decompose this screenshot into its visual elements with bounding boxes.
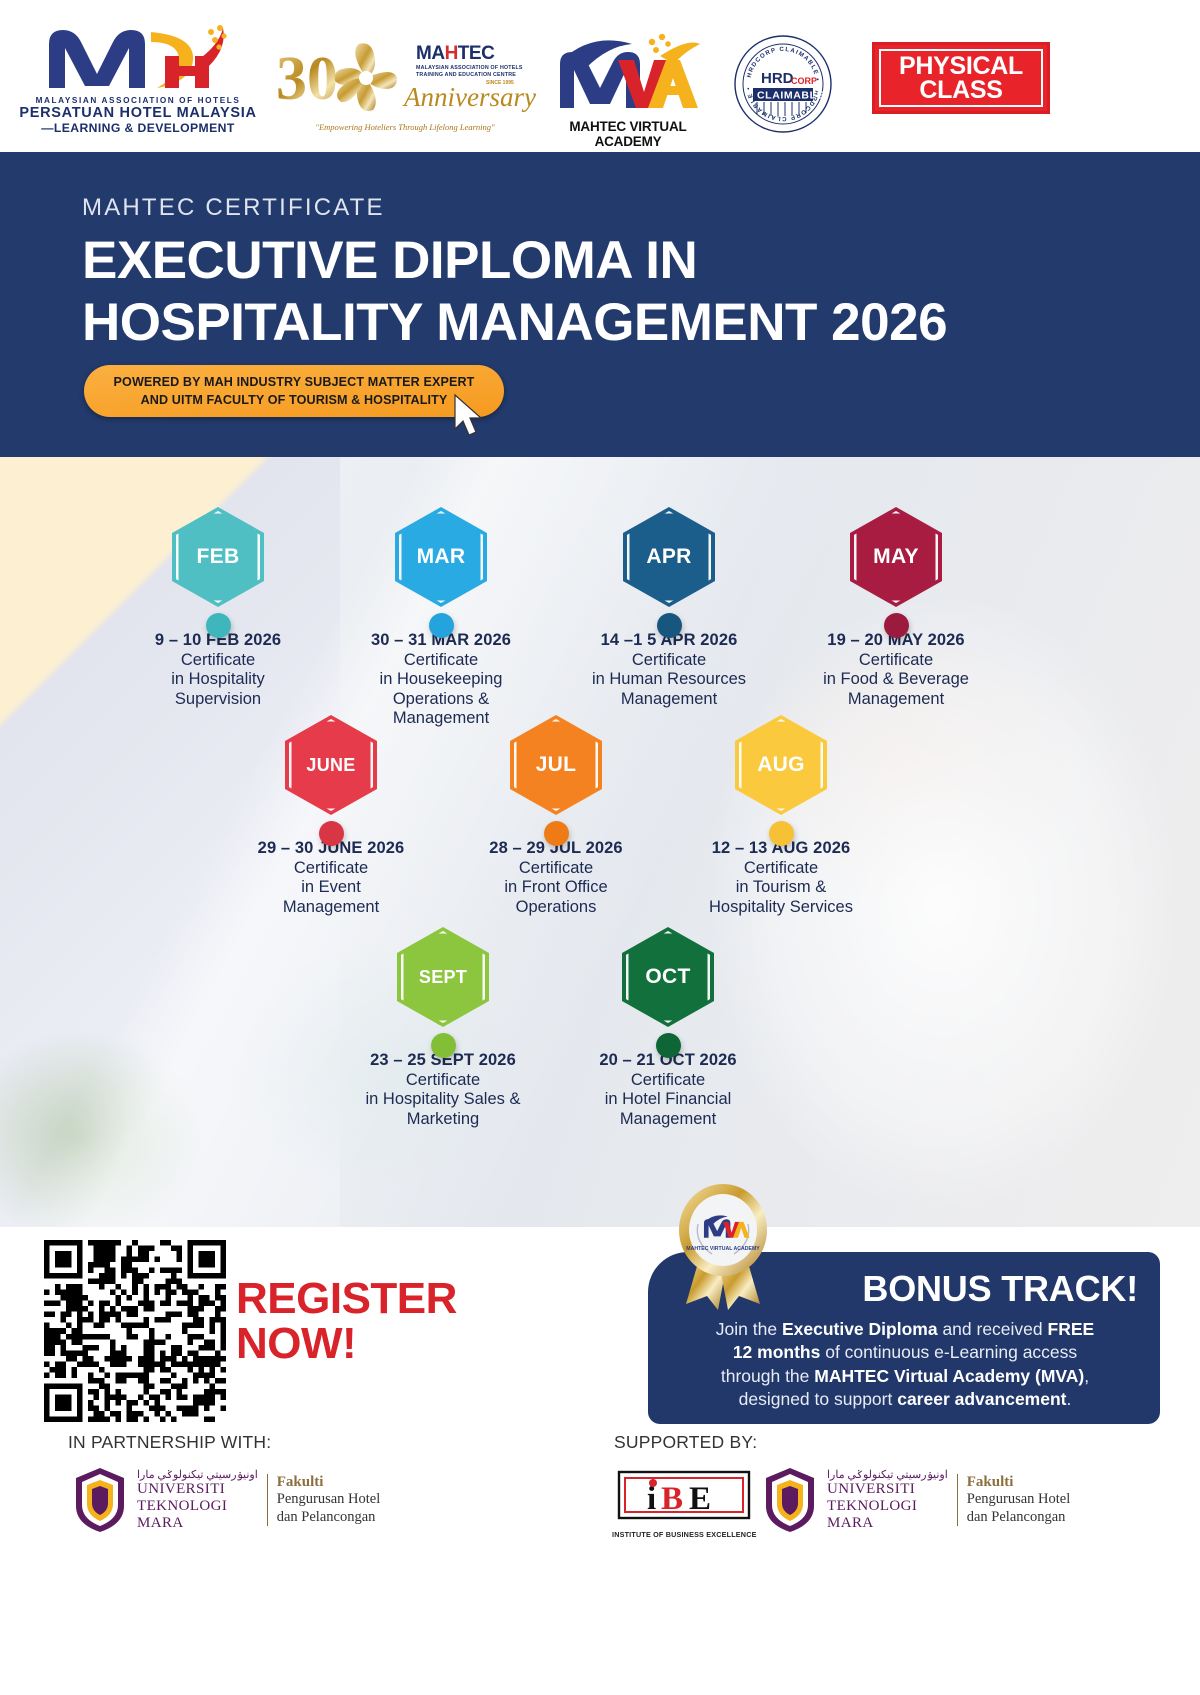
timeline-node-sept: SEPT23 – 25 SEPT 2026Certificatein Hospi… bbox=[323, 927, 563, 1129]
mva-gold-medal: MAHTEC VIRTUAL ACADEMY bbox=[660, 1172, 786, 1312]
timeline-node-apr: APR14 –1 5 APR 2026Certificatein Human R… bbox=[549, 507, 789, 709]
month-marker-may: MAY bbox=[847, 507, 945, 617]
month-label: FEB bbox=[197, 545, 240, 569]
hexagon-badge: AUG bbox=[735, 715, 827, 815]
mva-logo: MAHTEC VIRTUAL ACADEMY bbox=[548, 30, 708, 138]
mva-caption: MAHTEC VIRTUAL ACADEMY bbox=[548, 119, 708, 149]
timeline-node-mar: MAR30 – 31 MAR 2026Certificatein Houseke… bbox=[321, 507, 561, 729]
month-label: SEPT bbox=[419, 967, 467, 988]
supported-by-label: SUPPORTED BY: bbox=[614, 1432, 757, 1453]
uitm-name-block: اونيۏرسيتي تيکنولوݢي مارا UNIVERSITI TEK… bbox=[137, 1468, 258, 1531]
banner-title-line2: HOSPITALITY MANAGEMENT 2026 bbox=[82, 292, 947, 353]
hrd-corp-claimable-seal: HRDCORP CLAIMABLE • HRDCORP HRDCORP CLAI… bbox=[733, 34, 833, 134]
mah-logo: MALAYSIAN ASSOCIATION OF HOTELS PERSATUA… bbox=[18, 22, 258, 138]
mah-monogram-icon bbox=[43, 22, 233, 94]
month-marker-feb: FEB bbox=[169, 507, 267, 617]
svg-text:CORP: CORP bbox=[791, 76, 817, 86]
hexagon-badge: APR bbox=[623, 507, 715, 607]
title-banner: MAHTEC CERTIFICATE EXECUTIVE DIPLOMA IN … bbox=[0, 152, 1200, 457]
month-label: JUNE bbox=[306, 755, 355, 776]
svg-text:B: B bbox=[661, 1481, 683, 1517]
month-marker-mar: MAR bbox=[392, 507, 490, 617]
uitm-line3: MARA bbox=[137, 1515, 258, 1532]
uitm-crest-icon-right bbox=[762, 1466, 818, 1534]
faculty-line3-left: dan Pelancongan bbox=[277, 1509, 381, 1526]
faculty-line2-left: Pengurusan Hotel bbox=[277, 1491, 381, 1508]
mahtec-anniversary-logo: 30 bbox=[268, 30, 530, 140]
month-marker-june: JUNE bbox=[282, 715, 380, 825]
pill-line1: POWERED BY MAH INDUSTRY SUBJECT MATTER E… bbox=[114, 373, 475, 391]
banner-title-line1: EXECUTIVE DIPLOMA IN bbox=[82, 230, 697, 291]
ibe-caption: INSTITUTE OF BUSINESS EXCELLENCE bbox=[612, 1530, 757, 1539]
hexagon-badge: FEB bbox=[172, 507, 264, 607]
faculty-block-left: Fakulti Pengurusan Hotel dan Pelancongan bbox=[267, 1474, 381, 1526]
mahtec-wordmark: MAHTEC MALAYSIAN ASSOCIATION OF HOTELS T… bbox=[416, 44, 528, 78]
hexagon-badge: SEPT bbox=[397, 927, 489, 1027]
physical-class-badge: PHYSICAL CLASS bbox=[872, 42, 1050, 114]
course-title: Certificatein Front OfficeOperations bbox=[436, 859, 676, 917]
timeline-node-aug: AUG12 – 13 AUG 2026Certificatein Tourism… bbox=[661, 715, 901, 917]
month-marker-sept: SEPT bbox=[394, 927, 492, 1037]
uitm-line1: UNIVERSITI bbox=[137, 1481, 258, 1498]
timeline-node-oct: OCT20 – 21 OCT 2026Certificatein Hotel F… bbox=[548, 927, 788, 1129]
faculty-title-right: Fakulti bbox=[967, 1474, 1071, 1491]
month-label: APR bbox=[646, 545, 691, 569]
marker-dot bbox=[656, 1033, 681, 1058]
mah-logo-text: MALAYSIAN ASSOCIATION OF HOTELS PERSATUA… bbox=[18, 96, 258, 135]
mva-monogram-icon bbox=[548, 30, 708, 112]
marker-dot bbox=[769, 821, 794, 846]
timeline-node-june: JUNE29 – 30 JUNE 2026Certificatein Event… bbox=[211, 715, 451, 917]
uitm-jawi-right: اونيۏرسيتي تيکنولوݢي مارا bbox=[827, 1468, 948, 1481]
month-label: JUL bbox=[536, 753, 577, 777]
hexagon-badge: MAY bbox=[850, 507, 942, 607]
hexagon-badge: JUNE bbox=[285, 715, 377, 815]
month-label: AUG bbox=[757, 753, 805, 777]
uitm-name-block-right: اونيۏرسيتي تيکنولوݢي مارا UNIVERSITI TEK… bbox=[827, 1468, 948, 1531]
footer-partners: IN PARTNERSHIP WITH: SUPPORTED BY: اونيۏ… bbox=[0, 1432, 1200, 1677]
course-title: Certificatein Human ResourcesManagement bbox=[549, 651, 789, 709]
bottom-section: REGISTER NOW! bbox=[0, 1227, 1200, 1695]
timeline-node-jul: JUL28 – 29 JUL 2026Certificatein Front O… bbox=[436, 715, 676, 917]
mouse-cursor-icon bbox=[452, 393, 486, 437]
marker-dot bbox=[884, 613, 909, 638]
svg-text:HRD: HRD bbox=[761, 70, 794, 87]
course-title: Certificatein Hospitality Sales &Marketi… bbox=[323, 1071, 563, 1129]
partnership-label: IN PARTNERSHIP WITH: bbox=[68, 1432, 271, 1453]
mah-logo-line3: —LEARNING & DEVELOPMENT bbox=[18, 121, 258, 135]
marker-dot bbox=[431, 1033, 456, 1058]
mah-logo-mark bbox=[43, 22, 233, 94]
timeline-section: FEB9 – 10 FEB 2026Certificatein Hospital… bbox=[0, 457, 1200, 1227]
svg-text:CLAIMABLE: CLAIMABLE bbox=[757, 90, 824, 102]
marker-dot bbox=[429, 613, 454, 638]
mahtec-brand: MAHTEC bbox=[416, 44, 528, 63]
month-label: MAY bbox=[873, 545, 919, 569]
uitm-line3-right: MARA bbox=[827, 1515, 948, 1532]
month-marker-jul: JUL bbox=[507, 715, 605, 825]
since-year: SINCE 1995 bbox=[486, 80, 514, 86]
mah-logo-line2: PERSATUAN HOTEL MALAYSIA bbox=[18, 105, 258, 121]
registration-qr-code[interactable] bbox=[44, 1240, 226, 1422]
month-marker-apr: APR bbox=[620, 507, 718, 617]
register-line1: REGISTER bbox=[236, 1277, 457, 1322]
course-title: Certificatein Hotel FinancialManagement bbox=[548, 1071, 788, 1129]
faculty-block-right: Fakulti Pengurusan Hotel dan Pelancongan bbox=[957, 1474, 1071, 1526]
course-title: Certificatein Tourism &Hospitality Servi… bbox=[661, 859, 901, 917]
month-marker-aug: AUG bbox=[732, 715, 830, 825]
register-line2: NOW! bbox=[236, 1322, 457, 1367]
marker-dot bbox=[206, 613, 231, 638]
course-title: Certificatein EventManagement bbox=[211, 859, 451, 917]
marker-dot bbox=[544, 821, 569, 846]
faculty-title-left: Fakulti bbox=[277, 1474, 381, 1491]
month-label: MAR bbox=[417, 545, 466, 569]
hibiscus-icon bbox=[323, 38, 409, 127]
mahtec-brand-sub: MALAYSIAN ASSOCIATION OF HOTELS TRAINING… bbox=[416, 65, 528, 78]
uitm-line2: TEKNOLOGI bbox=[137, 1498, 258, 1515]
faculty-line2-right: Pengurusan Hotel bbox=[967, 1491, 1071, 1508]
hexagon-badge: OCT bbox=[622, 927, 714, 1027]
physical-class-line1: PHYSICAL bbox=[899, 54, 1023, 79]
banner-kicker: MAHTEC CERTIFICATE bbox=[82, 194, 385, 222]
ibe-logo: i B E INSTITUTE OF BUSINESS EXCELLENCE bbox=[612, 1470, 757, 1539]
uitm-crest-icon bbox=[72, 1466, 128, 1534]
powered-by-pill: POWERED BY MAH INDUSTRY SUBJECT MATTER E… bbox=[84, 365, 504, 417]
faculty-line3-right: dan Pelancongan bbox=[967, 1509, 1071, 1526]
poster-root: MALAYSIAN ASSOCIATION OF HOTELS PERSATUA… bbox=[0, 0, 1200, 1695]
timeline-node-may: MAY19 – 20 MAY 2026Certificatein Food & … bbox=[776, 507, 1016, 709]
marker-dot bbox=[657, 613, 682, 638]
pill-line2: AND UITM FACULTY OF TOURISM & HOSPITALIT… bbox=[141, 391, 448, 409]
ibe-mark-icon: i B E bbox=[617, 1470, 751, 1528]
physical-class-line2: CLASS bbox=[919, 78, 1002, 103]
uitm-logo-left: اونيۏرسيتي تيکنولوݢي مارا UNIVERSITI TEK… bbox=[72, 1466, 380, 1534]
register-now-callout: REGISTER NOW! bbox=[236, 1277, 457, 1367]
bonus-track-title: BONUS TRACK! bbox=[862, 1268, 1138, 1310]
hexagon-badge: MAR bbox=[395, 507, 487, 607]
month-label: OCT bbox=[645, 965, 690, 989]
svg-text:MAHTEC VIRTUAL ACADEMY: MAHTEC VIRTUAL ACADEMY bbox=[686, 1246, 760, 1252]
uitm-jawi: اونيۏرسيتي تيکنولوݢي مارا bbox=[137, 1468, 258, 1481]
anniversary-tagline: "Empowering Hoteliers Through Lifelong L… bbox=[280, 122, 530, 132]
anniversary-word: Anniversary bbox=[404, 82, 536, 113]
mah-logo-line1: MALAYSIAN ASSOCIATION OF HOTELS bbox=[18, 96, 258, 105]
timeline-node-feb: FEB9 – 10 FEB 2026Certificatein Hospital… bbox=[98, 507, 338, 709]
bonus-track-body: Join the Executive Diploma and received … bbox=[672, 1318, 1138, 1411]
uitm-logo-right: اونيۏرسيتي تيکنولوݢي مارا UNIVERSITI TEK… bbox=[762, 1466, 1070, 1534]
hexagon-badge: JUL bbox=[510, 715, 602, 815]
svg-text:E: E bbox=[689, 1481, 711, 1517]
month-marker-oct: OCT bbox=[619, 927, 717, 1037]
uitm-line1-right: UNIVERSITI bbox=[827, 1481, 948, 1498]
logo-bar: MALAYSIAN ASSOCIATION OF HOTELS PERSATUA… bbox=[0, 0, 1200, 152]
course-title: Certificatein HospitalitySupervision bbox=[98, 651, 338, 709]
course-title: Certificatein Food & BeverageManagement bbox=[776, 651, 1016, 709]
uitm-line2-right: TEKNOLOGI bbox=[827, 1498, 948, 1515]
marker-dot bbox=[319, 821, 344, 846]
